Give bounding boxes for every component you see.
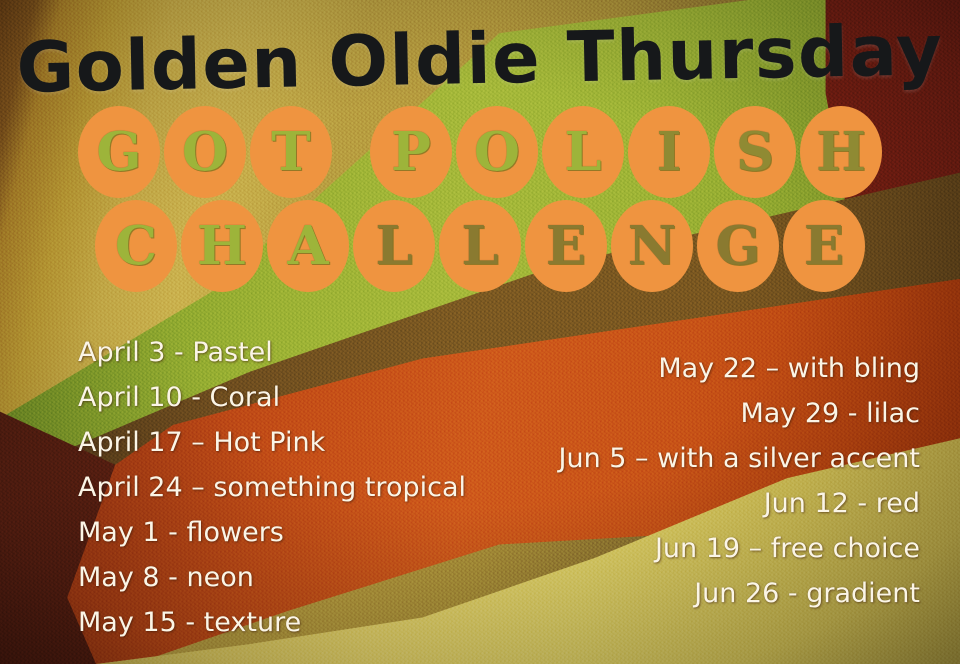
schedule-entry: April 10 - Coral bbox=[78, 375, 466, 420]
wordmark-letter-glyph: G bbox=[96, 126, 141, 179]
wordmark-letter-glyph: I bbox=[657, 126, 682, 179]
wordmark-letter-glyph: G bbox=[715, 220, 760, 273]
wordmark-letter-chip: L bbox=[439, 200, 521, 292]
wordmark-letter-chip: H bbox=[181, 200, 263, 292]
schedule-entry: Jun 26 - gradient bbox=[559, 571, 921, 616]
wordmark-letter-chip: E bbox=[525, 200, 607, 292]
schedule-column-right: May 22 – with bling May 29 - lilac Jun 5… bbox=[559, 346, 921, 645]
schedule-entry: May 8 - neon bbox=[78, 555, 466, 600]
wordmark-row-got-polish: G O T P O L I S H bbox=[0, 106, 960, 198]
wordmark-group: G O T P O L I S H C H A L L E N G E bbox=[0, 106, 960, 292]
wordmark-letter-chip: C bbox=[95, 200, 177, 292]
wordmark-letter-chip: S bbox=[714, 106, 796, 198]
wordmark-letter-chip: L bbox=[353, 200, 435, 292]
wordmark-letter-glyph: O bbox=[474, 126, 520, 179]
schedule-entry: May 22 – with bling bbox=[559, 346, 921, 391]
wordmark-letter-glyph: H bbox=[197, 220, 247, 273]
schedule-entry: May 15 - texture bbox=[78, 600, 466, 645]
schedule-entry: May 29 - lilac bbox=[559, 391, 921, 436]
wordmark-letter-glyph: S bbox=[736, 126, 774, 179]
schedule-lists: April 3 - Pastel April 10 - Coral April … bbox=[0, 330, 960, 645]
wordmark-letter-glyph: H bbox=[816, 126, 866, 179]
wordmark-letter-glyph: C bbox=[115, 220, 157, 273]
wordmark-letter-glyph: L bbox=[564, 126, 601, 179]
schedule-entry: April 24 – something tropical bbox=[78, 465, 466, 510]
wordmark-letter-chip: H bbox=[800, 106, 882, 198]
schedule-column-left: April 3 - Pastel April 10 - Coral April … bbox=[78, 330, 466, 645]
schedule-entry: Jun 12 - red bbox=[559, 481, 921, 526]
wordmark-letter-glyph: E bbox=[804, 220, 844, 273]
wordmark-letter-chip: E bbox=[783, 200, 865, 292]
wordmark-letter-glyph: E bbox=[546, 220, 586, 273]
wordmark-word-gap bbox=[336, 106, 366, 198]
wordmark-letter-chip: N bbox=[611, 200, 693, 292]
wordmark-letter-chip: G bbox=[78, 106, 160, 198]
wordmark-letter-chip: G bbox=[697, 200, 779, 292]
wordmark-row-challenge: C H A L L E N G E bbox=[0, 200, 960, 292]
poster-root: Golden Oldie Thursday G O T P O L I S H … bbox=[0, 0, 960, 664]
wordmark-letter-glyph: N bbox=[628, 220, 676, 273]
wordmark-letter-chip: O bbox=[456, 106, 538, 198]
wordmark-letter-chip: P bbox=[370, 106, 452, 198]
wordmark-letter-chip: L bbox=[542, 106, 624, 198]
schedule-entry: May 1 - flowers bbox=[78, 510, 466, 555]
wordmark-letter-chip: I bbox=[628, 106, 710, 198]
wordmark-letter-chip: A bbox=[267, 200, 349, 292]
schedule-entry: Jun 5 – with a silver accent bbox=[559, 436, 921, 481]
wordmark-letter-glyph: P bbox=[391, 126, 431, 179]
schedule-entry: April 3 - Pastel bbox=[78, 330, 466, 375]
wordmark-letter-glyph: L bbox=[375, 220, 412, 273]
wordmark-letter-glyph: T bbox=[271, 126, 310, 179]
wordmark-letter-glyph: A bbox=[287, 220, 328, 273]
schedule-entry: Jun 19 – free choice bbox=[559, 526, 921, 571]
wordmark-letter-glyph: O bbox=[182, 126, 228, 179]
wordmark-letter-chip: T bbox=[250, 106, 332, 198]
schedule-entry: April 17 – Hot Pink bbox=[78, 420, 466, 465]
wordmark-letter-glyph: L bbox=[461, 220, 498, 273]
wordmark-letter-chip: O bbox=[164, 106, 246, 198]
